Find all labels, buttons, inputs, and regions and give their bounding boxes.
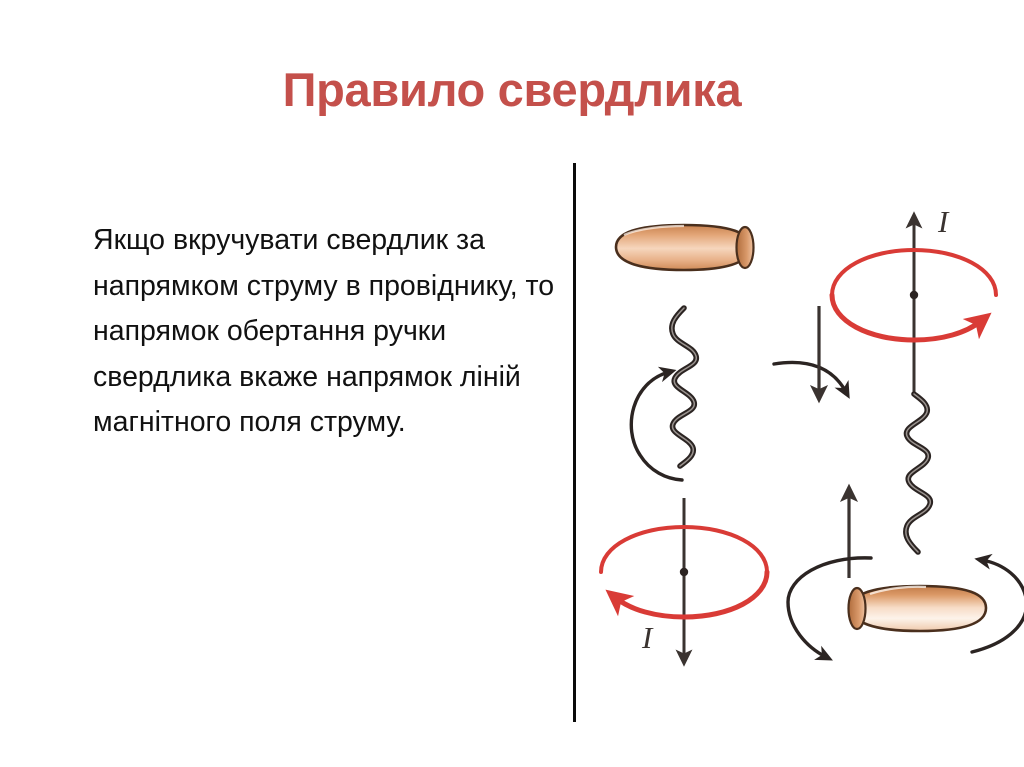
current-label-top-right: I (937, 204, 950, 239)
corkscrew-handle-icon (616, 225, 754, 270)
current-label-bottom-left: I (641, 620, 654, 655)
conductor-point-dot (680, 568, 688, 576)
corkscrew-spiral-icon (906, 394, 930, 581)
current-arrow-down-icon (680, 498, 688, 658)
corkscrew-spiral-icon (672, 272, 696, 466)
figure-corkscrew-screwing-in (616, 225, 846, 480)
page-title: Правило свердлика (0, 62, 1024, 117)
figure-current-down-field-lines: I (601, 498, 767, 658)
rotation-arrow-right-icon (774, 362, 846, 392)
figure-current-up-field-lines: I (832, 204, 996, 395)
rule-description-text: Якщо вкручувати свердлик за напрямком ст… (93, 218, 563, 446)
current-arrow-up-icon (910, 220, 918, 395)
illustration-panel: I I (574, 160, 1024, 730)
figure-corkscrew-unscrewing (788, 394, 1024, 657)
corkscrew-handle-icon (849, 586, 987, 631)
conductor-point-dot (910, 291, 918, 299)
